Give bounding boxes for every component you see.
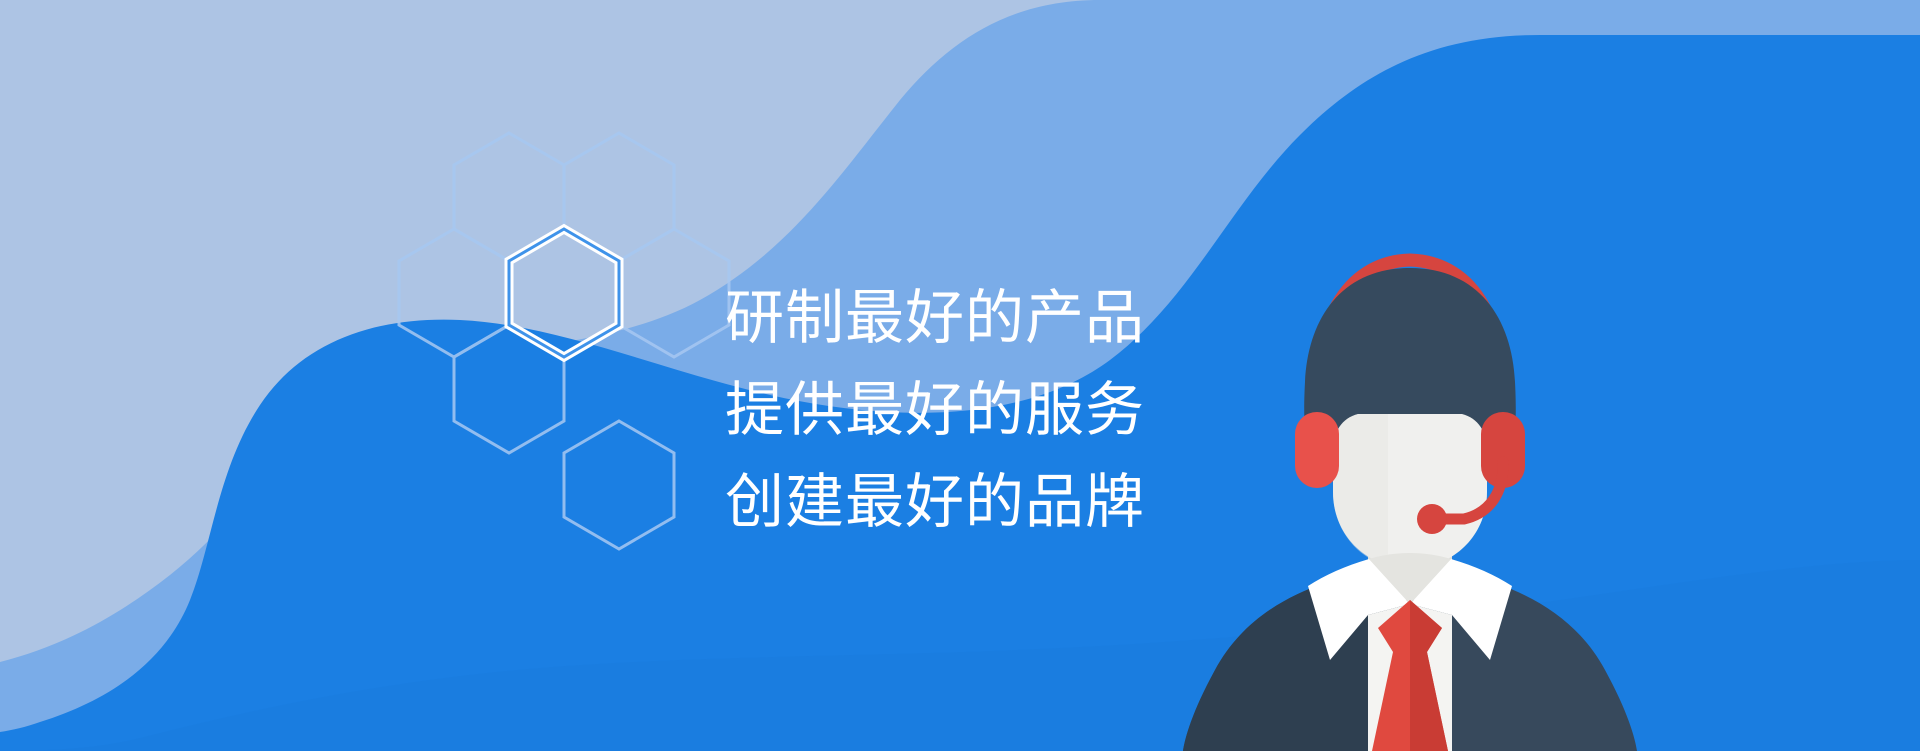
face-shadow — [1333, 414, 1388, 566]
hero-banner: 研制最好的产品 提供最好的服务 创建最好的品牌 — [0, 0, 1920, 751]
microphone-tip-icon — [1417, 504, 1447, 534]
headline-line-3: 创建最好的品牌 — [725, 456, 1245, 548]
headline-line-2: 提供最好的服务 — [725, 364, 1245, 456]
headline-line-1: 研制最好的产品 — [725, 272, 1245, 364]
headline-block: 研制最好的产品 提供最好的服务 创建最好的品牌 — [725, 272, 1245, 548]
headset-earcup-left — [1295, 412, 1339, 488]
